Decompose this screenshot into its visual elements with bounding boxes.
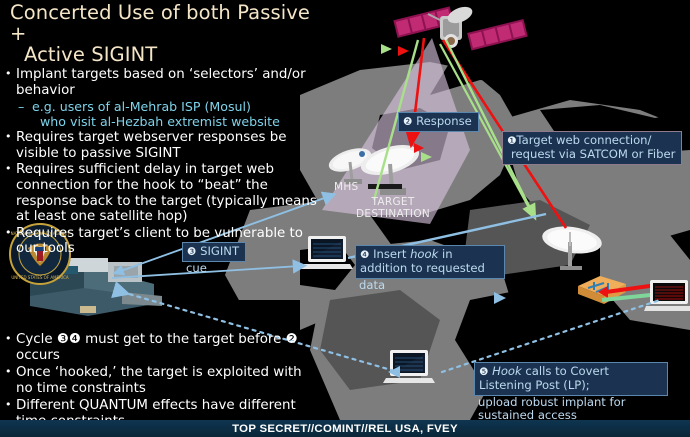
bullet-list-top: Implant targets based on ‘selectors’ and…	[4, 67, 320, 257]
callout-insert-number: ❹	[360, 249, 369, 261]
callout-response-number: ❷	[403, 116, 412, 128]
classification-banner: TOP SECRET//COMINT//REL USA, FVEY	[0, 420, 690, 437]
title-line-2: Active SIGINT	[24, 44, 320, 65]
callout-insert-label-cont: data	[355, 279, 505, 292]
callout-insert-hook[interactable]: ❹ Insert hook in addition to requested d…	[355, 245, 505, 292]
bullet-text: Once ‘hooked,’ the target is exploited w…	[16, 365, 302, 396]
bullet-item: Implant targets based on ‘selectors’ and…	[4, 67, 320, 129]
callout-hook-label-emphasis: Hook	[492, 364, 522, 378]
callout-target-number: ❶	[507, 135, 516, 147]
callout-sigint-label: SIGINT	[200, 244, 239, 258]
sub-bullet-text-cont: who visit al-Hezbah extremist website	[40, 114, 320, 129]
callout-sigint-box: ❸ SIGINT	[182, 242, 246, 262]
title-line-1: Concerted Use of both Passive +	[10, 1, 310, 45]
bullet-item: Requires sufficient delay in target web …	[4, 162, 320, 224]
callout-insert-box: ❹ Insert hook in addition to requested	[355, 245, 505, 279]
callout-hook-number: ❺	[479, 366, 488, 378]
callout-insert-label-emphasis: hook	[410, 247, 438, 261]
bullet-text: Implant targets based on ‘selectors’ and…	[16, 67, 306, 98]
page-title: Concerted Use of both Passive + Active S…	[10, 2, 320, 65]
callout-response-box: ❷ Response	[398, 112, 479, 132]
callout-hook-box: ❺ Hook calls to Covert Listening Post (L…	[474, 362, 668, 396]
bullet-text: Cycle ❸❹ must get to the target before ❷…	[16, 332, 298, 363]
callout-response-label: Response	[416, 114, 472, 128]
label-mhs: MHS	[334, 182, 359, 194]
callout-target-web-connection[interactable]: ❶Target web connection/ request via SATC…	[502, 131, 684, 165]
slide-canvas: NATIONAL SECURITY AGENCY UNITED STATES O…	[0, 0, 690, 437]
bullet-item: Requires target webserver responses be v…	[4, 130, 320, 161]
callout-insert-label-pre: Insert	[373, 247, 406, 261]
callout-sigint-number: ❸	[187, 246, 196, 258]
bullet-text: Requires target’s client to be vulnerabl…	[16, 226, 303, 257]
bullet-item: Once ‘hooked,’ the target is exploited w…	[4, 365, 304, 396]
callout-hook-label-cont: upload robust implant for sustained acce…	[474, 396, 668, 423]
bullet-list-bottom: Cycle ❸❹ must get to the target before ❷…	[4, 332, 304, 430]
bullet-item: Cycle ❸❹ must get to the target before ❷…	[4, 332, 304, 363]
callout-target-label: Target web connection/	[516, 133, 651, 147]
callout-target-label-cont: request via SATCOM or Fiber	[507, 148, 675, 161]
bullet-text: Requires sufficient delay in target web …	[16, 162, 317, 224]
sub-bullet-list: e.g. users of al-Mehrab ISP (Mosul) who …	[16, 99, 320, 129]
callout-hook-lp[interactable]: ❺ Hook calls to Covert Listening Post (L…	[474, 362, 668, 423]
sub-bullet-item: e.g. users of al-Mehrab ISP (Mosul) who …	[16, 99, 320, 129]
sub-bullet-text: e.g. users of al-Mehrab ISP (Mosul)	[32, 99, 251, 114]
callout-response[interactable]: ❷ Response	[398, 112, 479, 132]
label-target-destination: TARGET DESTINATION	[356, 197, 430, 220]
callout-sigint-label-cont: cue	[182, 262, 246, 275]
callout-target-box: ❶Target web connection/ request via SATC…	[502, 131, 682, 165]
label-target-destination-line1: TARGET	[371, 196, 414, 208]
bullet-text: Requires target webserver responses be v…	[16, 130, 286, 161]
left-text-column: Concerted Use of both Passive + Active S…	[4, 2, 320, 258]
bottom-text-column: Cycle ❸❹ must get to the target before ❷…	[4, 332, 304, 432]
label-target-destination-line2: DESTINATION	[356, 208, 430, 220]
bullet-item: Requires target’s client to be vulnerabl…	[4, 226, 320, 257]
callout-sigint-cue[interactable]: ❸ SIGINT cue	[182, 242, 246, 276]
